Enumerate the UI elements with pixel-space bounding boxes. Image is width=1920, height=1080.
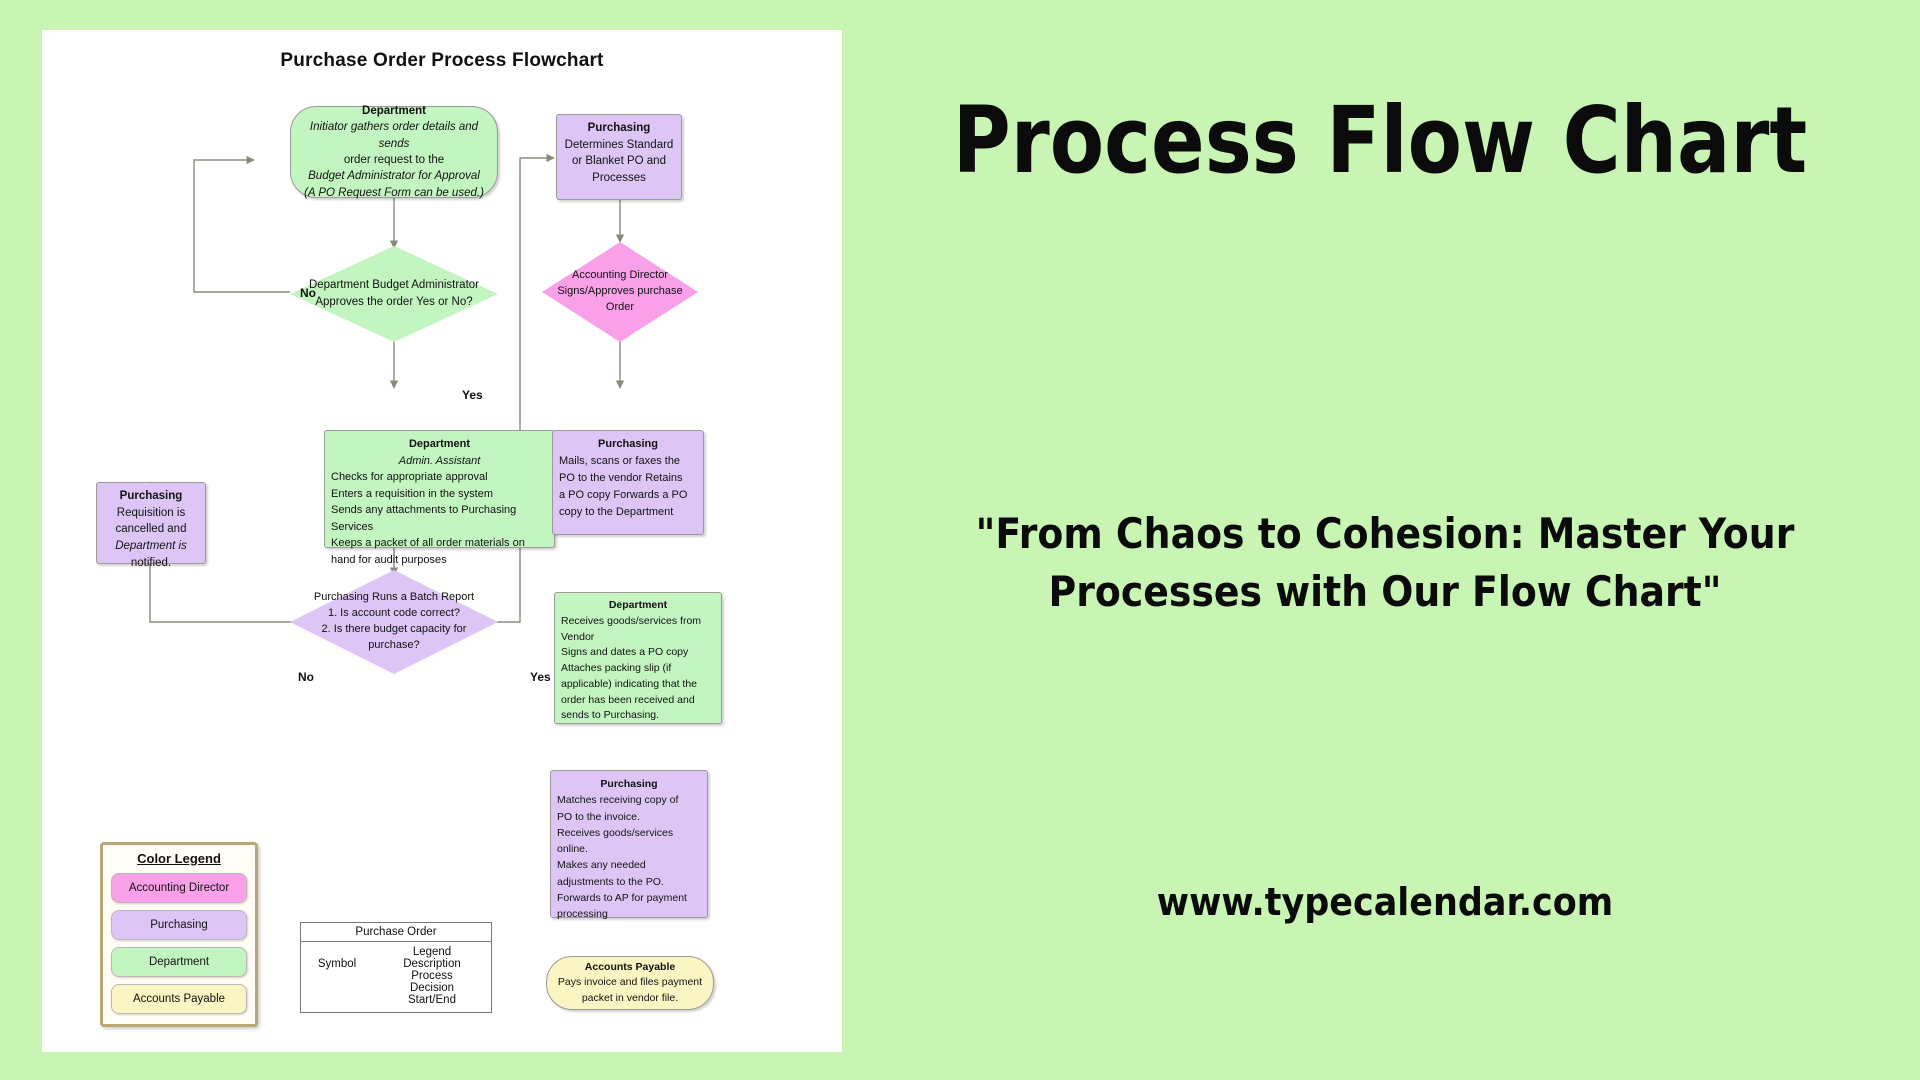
- node-mails-po[interactable]: Purchasing Mails, scans or faxes the PO …: [552, 430, 704, 535]
- node-line-1: Matches receiving copy of: [557, 794, 678, 806]
- node-line-2: Approves the order Yes or No?: [315, 296, 472, 308]
- node-batch-report[interactable]: Purchasing Runs a Batch Report 1. Is acc…: [290, 570, 498, 674]
- node-role: Department: [331, 436, 548, 453]
- node-line-1: Initiator gathers order details and send…: [310, 121, 478, 149]
- node-line-1: Mails, scans or faxes the: [559, 455, 680, 467]
- node-line-4: Sends any attachments to Purchasing: [331, 504, 516, 516]
- edge-label-batch-yes: Yes: [530, 670, 551, 684]
- po-legend-row-startend: Start/End: [373, 994, 491, 1006]
- node-line-1: Admin. Assistant: [331, 453, 548, 470]
- po-legend-header: Purchase Order: [301, 923, 491, 942]
- node-line-1: Budget Administrator: [372, 279, 479, 291]
- po-legend-symbol-decision: [301, 982, 373, 994]
- node-line-1: Pays invoice and files payment: [558, 976, 702, 988]
- node-line-2: packet in vendor file.: [582, 992, 678, 1004]
- po-legend-symbol-process: [301, 970, 373, 982]
- node-line-3: Signs and dates a PO copy: [561, 646, 688, 658]
- node-line-2: PO to the vendor Retains: [559, 472, 683, 484]
- po-legend-description-header: Description: [373, 958, 491, 970]
- node-line-4: Attaches packing slip (if: [561, 662, 671, 674]
- edge-label-budget-yes: Yes: [462, 388, 483, 402]
- node-line-2: Order: [606, 301, 634, 313]
- node-determines-po[interactable]: Purchasing Determines Standard or Blanke…: [556, 114, 682, 200]
- node-start-department[interactable]: Department Initiator gathers order detai…: [290, 106, 498, 198]
- node-accounts-payable[interactable]: Accounts Payable Pays invoice and files …: [546, 956, 714, 1010]
- node-role: Department: [309, 279, 369, 291]
- node-role: Purchasing: [559, 436, 697, 453]
- legend-swatch-accounting-director[interactable]: Accounting Director: [111, 873, 247, 903]
- node-line-2: or Blanket PO and: [572, 155, 666, 167]
- node-role: Accounting Director: [572, 269, 668, 281]
- legend-swatch-accounts-payable[interactable]: Accounts Payable: [111, 984, 247, 1014]
- node-line-1: Receives goods/services from: [561, 615, 701, 627]
- node-matches-invoice[interactable]: Purchasing Matches receiving copy of PO …: [550, 770, 708, 918]
- node-line-3: Enters a requisition in the system: [331, 488, 493, 500]
- promo-headline: Process Flow Chart: [950, 95, 1810, 187]
- po-legend-row-decision: Decision: [373, 982, 491, 994]
- node-line-4: copy to the Department: [559, 506, 673, 518]
- color-legend: Color Legend Accounting Director Purchas…: [100, 842, 258, 1027]
- node-line-6: Keeps a packet of all order materials on: [331, 537, 525, 549]
- node-line-1: Signs/Approves purchase: [557, 285, 682, 297]
- promo-tagline-line-2: Processes with Our Flow Chart": [931, 563, 1840, 621]
- node-line-6: order has been received and: [561, 694, 695, 706]
- node-requisition-cancelled[interactable]: Purchasing Requisition is cancelled and …: [96, 482, 206, 564]
- node-line-5: applicable) indicating that the: [561, 678, 697, 690]
- node-admin-assistant[interactable]: Department Admin. Assistant Checks for a…: [324, 430, 555, 548]
- node-role: Purchasing: [557, 776, 701, 792]
- node-line-1: Runs a Batch Report: [372, 591, 474, 603]
- node-line-1: Determines Standard: [565, 139, 674, 151]
- node-line-3: Receives goods/services: [557, 827, 673, 839]
- node-line-2: Vendor: [561, 631, 594, 643]
- po-legend-symbol-startend: [301, 994, 373, 1006]
- node-role: Department: [561, 598, 715, 614]
- purchase-order-legend: Purchase Order Legend Symbol Description…: [300, 922, 492, 1013]
- node-line-7: sends to Purchasing.: [561, 709, 659, 721]
- legend-swatch-department[interactable]: Department: [111, 947, 247, 977]
- poster-canvas: Purchase Order Process Flowchart: [0, 0, 1920, 1080]
- po-legend-symbol-header: Symbol: [301, 958, 373, 970]
- po-legend-word: Legend: [373, 946, 491, 958]
- node-line-8: processing: [557, 908, 608, 920]
- node-line-3: Processes: [592, 172, 646, 184]
- promo-website-url: www.typecalendar.com: [920, 880, 1849, 924]
- po-legend-spacer: [301, 946, 373, 958]
- node-line-2: 1. Is account code correct?: [328, 607, 460, 619]
- legend-swatch-purchasing[interactable]: Purchasing: [111, 910, 247, 940]
- node-role: Department: [301, 103, 487, 119]
- node-line-3: Department is: [115, 540, 187, 552]
- node-receives-goods[interactable]: Department Receives goods/services from …: [554, 592, 722, 724]
- node-line-2: cancelled and: [116, 523, 187, 535]
- node-line-7: Forwards to AP for payment: [557, 892, 687, 904]
- color-legend-title: Color Legend: [111, 851, 247, 866]
- node-line-2: order request to the: [344, 154, 444, 166]
- node-line-4: purchase?: [368, 639, 419, 651]
- node-line-2: PO to the invoice.: [557, 811, 640, 823]
- node-role: Accounts Payable: [558, 960, 702, 975]
- flowchart-sheet: Purchase Order Process Flowchart: [42, 30, 842, 1052]
- node-line-1: Requisition is: [117, 507, 185, 519]
- node-role: Purchasing: [563, 120, 675, 137]
- node-line-3: 2. Is there budget capacity for: [322, 623, 467, 635]
- edge-label-batch-no: No: [298, 670, 314, 684]
- node-line-3: a PO copy Forwards a PO: [559, 489, 687, 501]
- node-line-2: Checks for appropriate approval: [331, 471, 488, 483]
- node-line-5: Services: [331, 521, 373, 533]
- node-line-3: Budget Administrator for Approval: [308, 170, 480, 182]
- node-line-5: Makes any needed: [557, 859, 646, 871]
- node-line-6: adjustments to the PO.: [557, 876, 664, 888]
- node-line-4: notified.: [131, 557, 171, 569]
- node-line-4: (A PO Request Form can be used.): [304, 187, 484, 199]
- node-role: Purchasing: [314, 591, 369, 603]
- node-role: Purchasing: [103, 488, 199, 505]
- node-line-7: hand for audit purposes: [331, 554, 447, 566]
- promo-tagline: "From Chaos to Cohesion: Master Your Pro…: [931, 505, 1840, 621]
- node-director-signs[interactable]: Accounting Director Signs/Approves purch…: [542, 242, 698, 342]
- promo-tagline-line-1: "From Chaos to Cohesion: Master Your: [931, 505, 1840, 563]
- po-legend-row-process: Process: [373, 970, 491, 982]
- node-line-4: online.: [557, 843, 588, 855]
- node-budget-decision[interactable]: Department Budget Administrator Approves…: [290, 246, 498, 342]
